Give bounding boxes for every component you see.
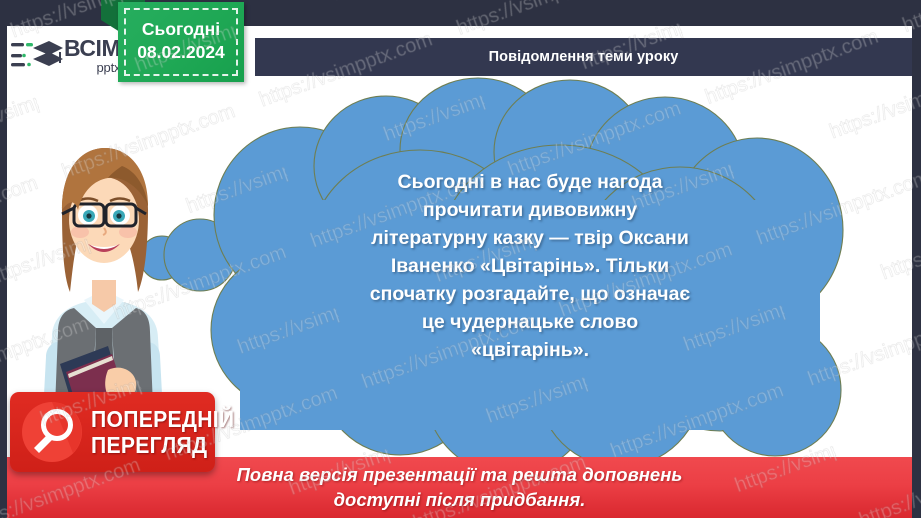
teacher-girl-illustration — [12, 132, 197, 432]
today-date-badge: Сьогодні 08.02.2024 — [118, 2, 244, 82]
notice-line-1: Повна версія презентації та решта доповн… — [237, 463, 683, 487]
frame-left-edge — [0, 0, 7, 518]
magnifier-icon — [21, 401, 83, 463]
logo-suffix: pptx — [97, 61, 121, 74]
today-date: 08.02.2024 — [137, 41, 225, 65]
cloud-line: Сьогодні в нас буде нагода — [300, 168, 760, 196]
slide-header-bar: Повідомлення теми уроку — [255, 38, 912, 76]
cloud-line: Іваненко «Цвітарінь». Тільки — [300, 252, 760, 280]
presentation-slide: Сьогодні в нас буде нагода прочитати див… — [0, 0, 921, 518]
preview-label-line-1: ПОПЕРЕДНІЙ — [91, 408, 234, 431]
frame-right-edge — [912, 0, 921, 518]
page-title: Повідомлення теми уроку — [489, 49, 679, 65]
cloud-line: це чудернацьке слово — [300, 308, 760, 336]
cloud-message: Сьогодні в нас буде нагода прочитати див… — [300, 168, 760, 365]
cloud-line: літературну казку — твір Оксани — [300, 224, 760, 252]
cloud-line: спочатку розгадайте, що означає — [300, 280, 760, 308]
today-label: Сьогодні — [142, 19, 220, 41]
cloud-line: прочитати дивовижну — [300, 196, 760, 224]
preview-label-line-2: ПЕРЕГЛЯД — [91, 434, 234, 457]
graduation-cap-icon — [11, 35, 63, 75]
cloud-line: «цвітарінь». — [300, 336, 760, 364]
preview-badge[interactable]: ПОПЕРЕДНІЙ ПЕРЕГЛЯД — [10, 392, 215, 472]
notice-line-2: доступні після придбання. — [334, 488, 586, 512]
